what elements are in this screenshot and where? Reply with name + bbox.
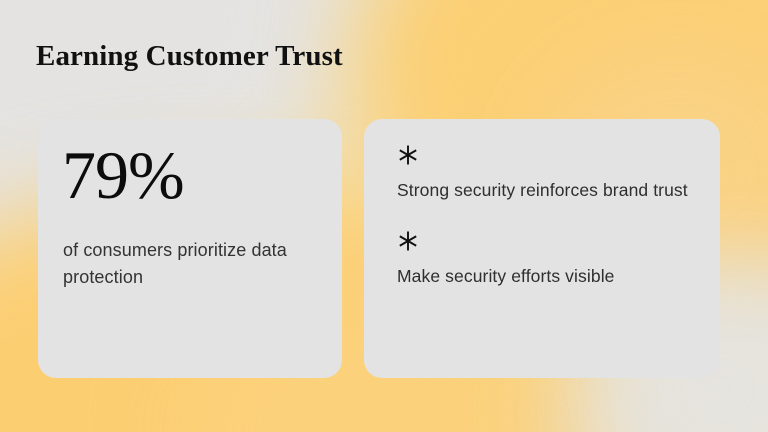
list-item-label: Make security efforts visible [397, 265, 697, 288]
slide-canvas: Earning Customer Trust 79% of consumers … [0, 0, 768, 432]
key-points-list: Strong security reinforces brand trust M… [397, 144, 702, 288]
list-item: Make security efforts visible [397, 230, 702, 288]
asterisk-icon [397, 144, 419, 166]
statistic-card: 79% of consumers prioritize data protect… [38, 119, 342, 378]
key-points-card: Strong security reinforces brand trust M… [364, 119, 720, 378]
statistic-value: 79% [62, 136, 184, 214]
asterisk-icon [397, 230, 419, 252]
list-item: Strong security reinforces brand trust [397, 144, 702, 202]
list-item-label: Strong security reinforces brand trust [397, 179, 697, 202]
statistic-caption: of consumers prioritize data protection [63, 237, 318, 291]
page-title: Earning Customer Trust [36, 38, 343, 74]
slide-content: Earning Customer Trust 79% of consumers … [0, 0, 768, 432]
